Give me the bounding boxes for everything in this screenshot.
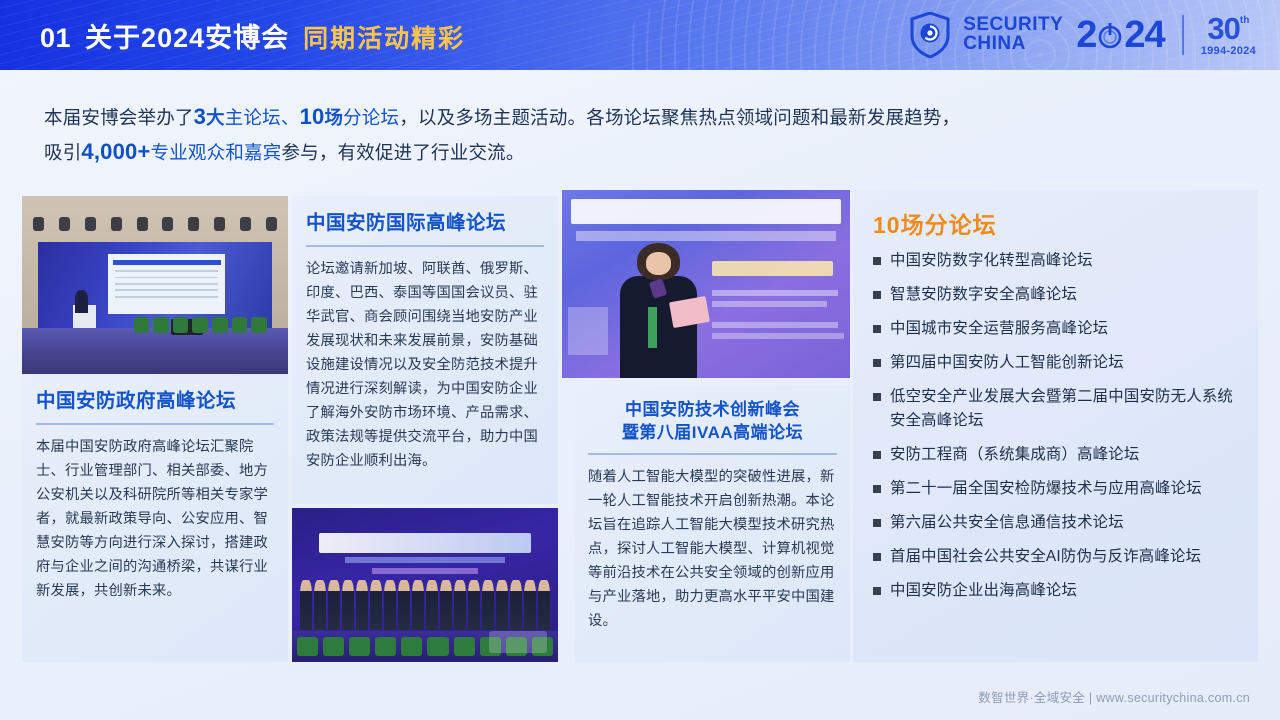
list-item[interactable]: 智慧安防数字安全高峰论坛 (873, 283, 1244, 307)
list-item-label: 第二十一届全国安检防爆技术与应用高峰论坛 (890, 477, 1202, 501)
square-bullet-icon (873, 325, 881, 333)
logo-year-left: 2 (1076, 16, 1096, 54)
security-china-logo: SECURITY CHINA 2 24 30 th 1994-2024 (910, 8, 1256, 62)
card-rule (588, 453, 837, 455)
intro-part-1: 本届安博会举办了 (44, 107, 194, 128)
list-item-label: 中国城市安全运营服务高峰论坛 (890, 317, 1108, 341)
list-item-label: 第四届中国安防人工智能创新论坛 (890, 351, 1124, 375)
photo2-subtitle-banner (345, 557, 505, 563)
sub-forums-list: 中国安防数字化转型高峰论坛 智慧安防数字安全高峰论坛 中国城市安全运营服务高峰论… (873, 249, 1244, 603)
intro-paragraph: 本届安博会举办了3大主论坛、10场分论坛，以及多场主题活动。各场论坛聚焦热点领域… (44, 100, 1224, 170)
logo-wordmark: SECURITY CHINA (963, 16, 1063, 53)
card-title-technology-summit-line1: 中国安防技术创新峰会 (588, 398, 837, 421)
intro-number-10: 10 (300, 104, 325, 129)
photo3-subtitle-banner (576, 231, 835, 240)
square-bullet-icon (873, 485, 881, 493)
list-item-label: 第六届公共安全信息通信技术论坛 (890, 511, 1124, 535)
photo-government-forum (22, 196, 288, 374)
photo2-people-row (300, 580, 550, 629)
column-technology-summit: 中国安防技术创新峰会 暨第八届IVAA高端论坛 随着人工智能大模型的突破性进展，… (562, 190, 850, 662)
anniversary-number: 30 (1207, 13, 1239, 44)
intro-part-3: 吸引 (44, 142, 81, 163)
section-number: 01 (40, 23, 71, 54)
list-item[interactable]: 第六届公共安全信息通信技术论坛 (873, 511, 1244, 535)
square-bullet-icon (873, 587, 881, 595)
list-item-label: 安防工程商（系统集成商）高峰论坛 (890, 443, 1139, 467)
intro-part-2: ，以及多场主题活动。各场论坛聚焦热点领域问题和最新发展趋势， (399, 107, 960, 128)
intro-number-4000: 4,000 (81, 139, 137, 164)
page-subtitle: 同期活动精彩 (303, 19, 465, 55)
list-item-label: 低空安全产业发展大会暨第二届中国安防无人系统安全高峰论坛 (890, 385, 1244, 433)
photo2-corner-logo (489, 631, 548, 653)
list-item-label: 中国安防企业出海高峰论坛 (890, 579, 1077, 603)
photo3-info-line-4 (712, 333, 844, 340)
photo1-stage-floor (22, 328, 288, 374)
header-title-group: 01 关于2024安博会 同期活动精彩 (40, 16, 465, 55)
anniversary-suffix: th (1240, 15, 1249, 26)
photo1-speaker (75, 290, 88, 313)
card-body-international-forum: 论坛邀请新加坡、阿联酋、俄罗斯、印度、巴西、泰国等国国会议员、驻华武官、商会顾问… (306, 257, 544, 473)
list-item[interactable]: 中国城市安全运营服务高峰论坛 (873, 317, 1244, 341)
list-item-label: 中国安防数字化转型高峰论坛 (890, 249, 1093, 273)
slide-header: 01 关于2024安博会 同期活动精彩 SECURITY CHINA 2 (0, 0, 1280, 70)
photo1-plants (134, 317, 267, 333)
list-item[interactable]: 中国安防数字化转型高峰论坛 (873, 249, 1244, 273)
card-rule (36, 423, 274, 425)
column-international-forum: 中国安防国际高峰论坛 论坛邀请新加坡、阿联酋、俄罗斯、印度、巴西、泰国等国国会议… (292, 196, 558, 662)
photo3-speaker-face (646, 252, 672, 275)
column-government-forum: 中国安防政府高峰论坛 本届中国安防政府高峰论坛汇聚院士、行业管理部门、相关部委、… (22, 196, 288, 662)
logo-year-right: 24 (1124, 16, 1164, 54)
anniversary-badge: 30 th 1994-2024 (1201, 13, 1256, 57)
logo-line-china: CHINA (963, 35, 1063, 54)
sub-forums-panel: 10场分论坛 中国安防数字化转型高峰论坛 智慧安防数字安全高峰论坛 中国城市安全… (853, 190, 1258, 662)
intro-part-4: 参与，有效促进了行业交流。 (281, 142, 524, 163)
list-item[interactable]: 第四届中国安防人工智能创新论坛 (873, 351, 1244, 375)
security-china-shield-icon (910, 12, 950, 58)
photo-international-forum-group (292, 508, 558, 662)
intro-unit-1: 大 (206, 107, 225, 128)
anniversary-number-group: 30 th (1207, 13, 1249, 44)
square-bullet-icon (873, 257, 881, 265)
anniversary-years: 1994-2024 (1201, 45, 1256, 57)
card-body-technology-summit: 随着人工智能大模型的突破性进展，新一轮人工智能技术开启创新热潮。本论坛旨在追踪人… (588, 465, 837, 633)
photo3-lanyard (648, 307, 657, 348)
card-title-international-forum: 中国安防国际高峰论坛 (306, 210, 544, 236)
square-bullet-icon (873, 393, 881, 401)
intro-plus-sign: + (137, 139, 150, 164)
square-bullet-icon (873, 519, 881, 527)
slide-root: 01 关于2024安博会 同期活动精彩 SECURITY CHINA 2 (0, 0, 1280, 720)
square-bullet-icon (873, 451, 881, 459)
card-government-forum: 中国安防政府高峰论坛 本届中国安防政府高峰论坛汇聚院士、行业管理部门、相关部委、… (22, 374, 288, 662)
photo3-title-banner (571, 199, 842, 223)
card-title-technology-summit-line2: 暨第八届IVAA高端论坛 (588, 421, 837, 444)
intro-label-2: 分论坛 (343, 107, 399, 128)
list-item[interactable]: 中国安防企业出海高峰论坛 (873, 579, 1244, 603)
square-bullet-icon (873, 359, 881, 367)
logo-year: 2 24 (1076, 16, 1164, 54)
sub-forums-title: 10场分论坛 (873, 206, 1244, 240)
card-title-government-forum: 中国安防政府高峰论坛 (36, 388, 274, 414)
card-rule (306, 245, 544, 247)
card-international-forum: 中国安防国际高峰论坛 论坛邀请新加坡、阿联酋、俄罗斯、印度、巴西、泰国等国国会议… (292, 196, 558, 504)
photo1-slide (108, 254, 225, 314)
photo3-info-line-1 (712, 290, 839, 297)
intro-label-1: 主论坛、 (225, 107, 300, 128)
intro-unit-2: 场 (324, 107, 343, 128)
footer-text: 数智世界·全域安全 | www.securitychina.com.cn (978, 687, 1250, 706)
list-item[interactable]: 低空安全产业发展大会暨第二届中国安防无人系统安全高峰论坛 (873, 385, 1244, 433)
square-bullet-icon (873, 553, 881, 561)
card-body-government-forum: 本届中国安防政府高峰论坛汇聚院士、行业管理部门、相关部委、地方公安机关以及科研院… (36, 435, 274, 603)
card-technology-summit: 中国安防技术创新峰会 暨第八届IVAA高端论坛 随着人工智能大模型的突破性进展，… (575, 386, 850, 662)
intro-number-3: 3 (194, 104, 206, 129)
photo3-info-line-2 (712, 301, 827, 308)
list-item-label: 智慧安防数字安全高峰论坛 (890, 283, 1077, 307)
content-columns: 中国安防政府高峰论坛 本届中国安防政府高峰论坛汇聚院士、行业管理部门、相关部委、… (22, 196, 1258, 666)
power-icon (1097, 20, 1123, 50)
photo1-stage-lights (33, 217, 278, 238)
photo3-slogan (712, 261, 833, 276)
list-item[interactable]: 首届中国社会公共安全AI防伪与反诈高峰论坛 (873, 545, 1244, 569)
logo-divider (1182, 15, 1184, 55)
page-title: 关于2024安博会 (85, 16, 289, 55)
photo3-info-line-3 (712, 322, 839, 329)
photo2-slogan-banner (372, 568, 478, 574)
intro-label-3: 专业观众和嘉宾 (151, 142, 282, 163)
photo-technology-summit (562, 190, 850, 378)
list-item-label: 首届中国社会公共安全AI防伪与反诈高峰论坛 (890, 545, 1201, 569)
photo3-left-decor (568, 307, 608, 356)
photo2-title-banner (319, 533, 532, 553)
list-item[interactable]: 第二十一届全国安检防爆技术与应用高峰论坛 (873, 477, 1244, 501)
list-item[interactable]: 安防工程商（系统集成商）高峰论坛 (873, 443, 1244, 467)
square-bullet-icon (873, 291, 881, 299)
